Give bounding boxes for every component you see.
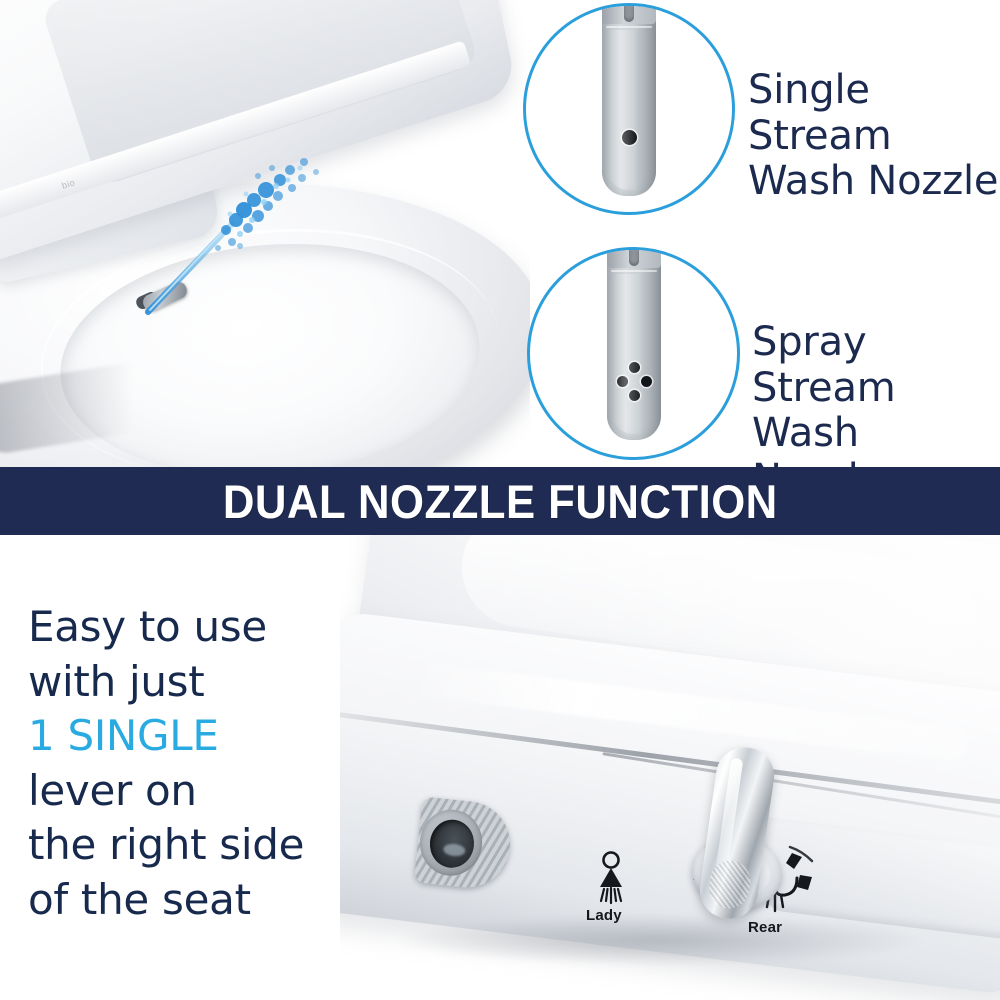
lady-label: Lady	[586, 907, 622, 924]
spray-stream-nozzle-graphic	[607, 247, 661, 440]
easy-to-use-copy: Easy to use with just 1 SINGLE lever on …	[28, 600, 358, 928]
callout-label-single-stream: Single Stream Wash Nozzle	[748, 68, 1000, 205]
dual-nozzle-banner: DUAL NOZZLE FUNCTION	[0, 467, 1000, 535]
bidet-seat-photo: bio	[0, 0, 530, 467]
copy-line: with just	[28, 655, 358, 710]
rear-label: Rear	[748, 919, 782, 936]
nozzle-hole	[622, 130, 637, 145]
product-infographic: bio	[0, 0, 1000, 1000]
callout-label-spray-stream: Spray Stream Wash Nozzle	[752, 320, 1000, 467]
bidet-seat-side-photo: Lady Rear	[340, 535, 1000, 1000]
lever-grip	[707, 858, 753, 911]
nozzle-hole	[629, 362, 640, 373]
copy-line: the right side	[28, 818, 358, 873]
banner-title: DUAL NOZZLE FUNCTION	[223, 474, 778, 529]
lady-wash-icon	[590, 851, 632, 905]
copy-line-accent: 1 SINGLE	[28, 709, 358, 764]
copy-line: of the seat	[28, 873, 358, 928]
seat-drop-shadow	[400, 915, 920, 965]
water-spray-icon	[140, 150, 350, 320]
nozzle-hole	[641, 376, 652, 387]
top-section: bio	[0, 0, 1000, 467]
copy-line: Easy to use	[28, 600, 358, 655]
bottom-section: Easy to use with just 1 SINGLE lever on …	[0, 535, 1000, 1000]
copy-line: lever on	[28, 764, 358, 819]
nozzle-hole	[629, 390, 640, 401]
nozzle-slot	[629, 247, 639, 266]
single-stream-nozzle-graphic	[602, 3, 656, 196]
nozzle-slot	[624, 3, 634, 22]
nozzle-hole	[617, 376, 628, 387]
callout-circle-spray-stream	[527, 247, 740, 460]
callout-circle-single-stream	[523, 3, 735, 215]
water-inlet-connector[interactable]	[414, 796, 514, 891]
